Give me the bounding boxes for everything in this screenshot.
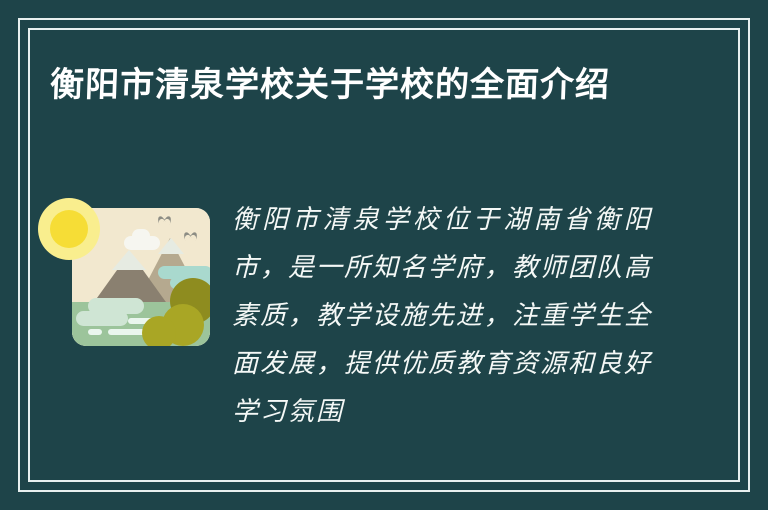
cloud-pale (76, 311, 128, 326)
sun-icon (38, 198, 100, 260)
content-row: 衡阳市清泉学校位于湖南省衡阳市，是一所知名学府，教师团队高素质，教学设施先进，注… (50, 196, 708, 436)
snow-cap-front (112, 250, 146, 270)
article-body-text: 衡阳市清泉学校位于湖南省衡阳市，是一所知名学府，教师团队高素质，教学设施先进，注… (232, 196, 652, 436)
bush (142, 316, 176, 346)
wave-line (88, 329, 102, 335)
mountain-landscape-illustration (50, 196, 210, 362)
bird-icon (158, 216, 171, 224)
page-title: 衡阳市清泉学校关于学校的全面介绍 (49, 58, 671, 112)
